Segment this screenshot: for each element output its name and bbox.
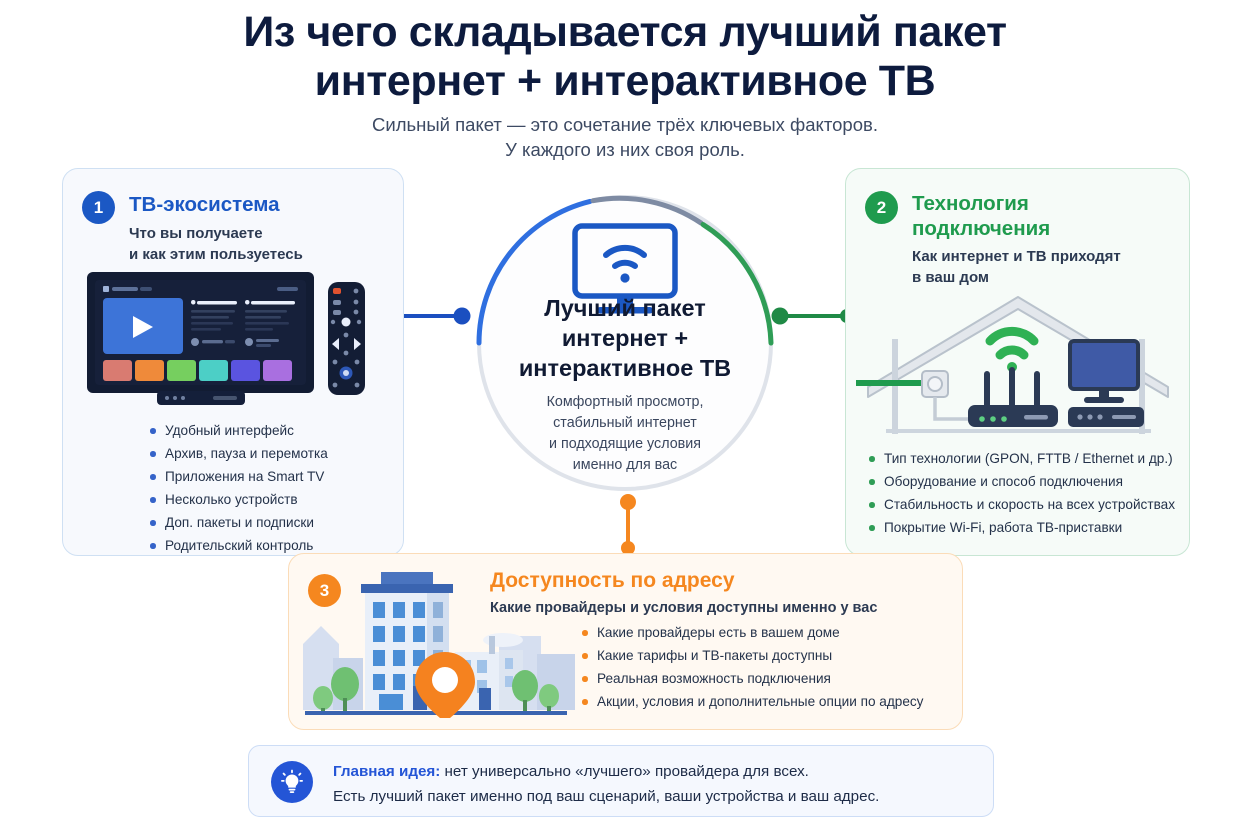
- card-connection-technology[interactable]: 2 Технология подключения Как интернет и …: [845, 168, 1190, 556]
- hub-description: Комфортный просмотр, стабильный интернет…: [472, 392, 778, 476]
- card-1-subtitle-line-2: и как этим пользуетесь: [129, 244, 303, 265]
- card-2-title-line-2: подключения: [912, 216, 1142, 241]
- lightbulb-icon: [271, 761, 313, 803]
- page-title-line-1: Из чего складывается лучший пакет: [0, 8, 1250, 57]
- list-item: Доп. пакеты и подписки: [147, 511, 328, 534]
- card-2-bullet-list: Тип технологии (GPON, FTTB / Ethernet и …: [866, 447, 1175, 539]
- hub-desc-line-2: стабильный интернет: [472, 413, 778, 434]
- card-2-title: Технология подключения: [912, 191, 1142, 241]
- city-illustration: [303, 566, 575, 718]
- key-idea-text: Главная идея: нет универсально «лучшего»…: [333, 760, 973, 809]
- list-item: Акции, условия и дополнительные опции по…: [579, 690, 923, 713]
- list-item: Покрытие Wi-Fi, работа ТВ-приставки: [866, 516, 1175, 539]
- house-illustration: [856, 279, 1181, 434]
- list-item: Архив, пауза и перемотка: [147, 442, 328, 465]
- card-availability-by-address[interactable]: 3 Доступность по адресу Какие провайдеры…: [288, 553, 963, 730]
- card-1-title: ТВ-экосистема: [129, 192, 280, 218]
- page-subtitle: Сильный пакет — это сочетание трёх ключе…: [0, 112, 1250, 162]
- list-item: Какие провайдеры есть в вашем доме: [579, 621, 923, 644]
- card-1-bullet-list: Удобный интерфейс Архив, пауза и перемот…: [147, 419, 328, 557]
- key-idea-line-2: Есть лучший пакет именно под ваш сценари…: [333, 785, 973, 810]
- key-idea-line-1-rest: нет универсально «лучшего» провайдера дл…: [440, 763, 809, 780]
- hub-title: Лучший пакет интернет + интерактивное ТВ: [472, 293, 778, 383]
- smart-tv-illustration: [87, 272, 382, 405]
- list-item: Удобный интерфейс: [147, 419, 328, 442]
- hub-title-line-2: интернет +: [472, 323, 778, 353]
- hub-desc-line-4: именно для вас: [472, 455, 778, 476]
- list-item: Оборудование и способ подключения: [866, 470, 1175, 493]
- list-item: Тип технологии (GPON, FTTB / Ethernet и …: [866, 447, 1175, 470]
- hub-desc-line-1: Комфортный просмотр,: [472, 392, 778, 413]
- list-item: Какие тарифы и ТВ-пакеты доступны: [579, 644, 923, 667]
- card-2-number-badge: 2: [865, 191, 898, 224]
- page-title-line-2: интернет + интерактивное ТВ: [0, 57, 1250, 106]
- key-idea-banner: Главная идея: нет универсально «лучшего»…: [248, 745, 994, 817]
- key-idea-line-1: Главная идея: нет универсально «лучшего»…: [333, 760, 973, 785]
- card-2-title-line-1: Технология: [912, 191, 1142, 216]
- card-1-subtitle-line-1: Что вы получаете: [129, 223, 303, 244]
- hub-text-block: Лучший пакет интернет + интерактивное ТВ…: [472, 293, 778, 476]
- hub-title-line-1: Лучший пакет: [472, 293, 778, 323]
- card-1-number-badge: 1: [82, 191, 115, 224]
- list-item: Реальная возможность подключения: [579, 667, 923, 690]
- page-subtitle-line-1: Сильный пакет — это сочетание трёх ключе…: [0, 112, 1250, 137]
- infographic-root: Из чего складывается лучший пакет интерн…: [0, 0, 1250, 833]
- card-1-subtitle: Что вы получаете и как этим пользуетесь: [129, 223, 303, 265]
- key-idea-lead: Главная идея:: [333, 763, 440, 780]
- card-tv-ecosystem[interactable]: 1 ТВ-экосистема Что вы получаете и как э…: [62, 168, 404, 556]
- list-item: Приложения на Smart TV: [147, 465, 328, 488]
- card-2-subtitle-line-1: Как интернет и ТВ приходят: [912, 246, 1121, 267]
- card-3-bullet-list: Какие провайдеры есть в вашем доме Какие…: [579, 621, 923, 713]
- list-item: Стабильность и скорость на всех устройст…: [866, 493, 1175, 516]
- list-item: Несколько устройств: [147, 488, 328, 511]
- hub-desc-line-3: и подходящие условия: [472, 434, 778, 455]
- page-title: Из чего складывается лучший пакет интерн…: [0, 8, 1250, 106]
- hub-title-line-3: интерактивное ТВ: [472, 353, 778, 383]
- page-subtitle-line-2: У каждого из них своя роль.: [0, 137, 1250, 162]
